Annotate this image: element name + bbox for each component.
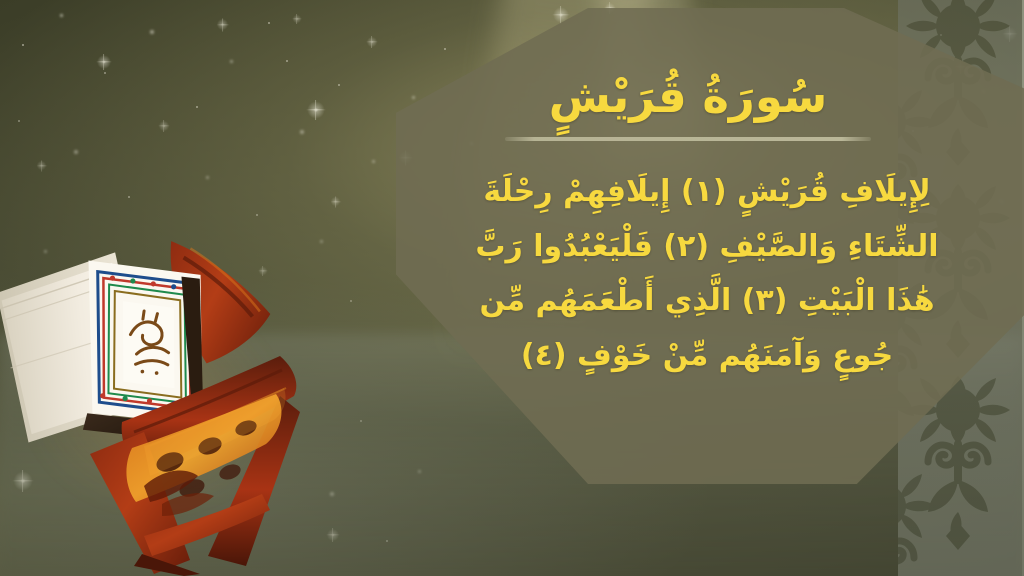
slide-canvas: سُورَةُ قُرَيْشٍ لِإِيلَافِ قُرَيْشٍ (١)… — [0, 0, 1024, 576]
surah-content-block: سُورَةُ قُرَيْشٍ لِإِيلَافِ قُرَيْشٍ (١)… — [396, 8, 1024, 484]
surah-verses-text: لِإِيلَافِ قُرَيْشٍ (١) إِيلَافِهِمْ رِح… — [472, 165, 960, 383]
title-divider — [505, 137, 871, 141]
quran-on-rehal-icon — [0, 236, 324, 576]
verse-line: لِإِيلَافِ قُرَيْشٍ (١) إِيلَافِهِمْ رِح… — [472, 165, 942, 220]
verse-line: جُوعٍ وَآمَنَهُم مِّنْ خَوْفٍ (٤) — [472, 329, 942, 384]
verse-line: الشِّتَاءِ وَالصَّيْفِ (٢) فَلْيَعْبُدُو… — [472, 220, 942, 275]
verse-line: هَٰذَا الْبَيْتِ (٣) الَّذِي أَطْعَمَهُم… — [472, 274, 942, 329]
page-title: سُورَةُ قُرَيْشٍ — [549, 70, 884, 123]
